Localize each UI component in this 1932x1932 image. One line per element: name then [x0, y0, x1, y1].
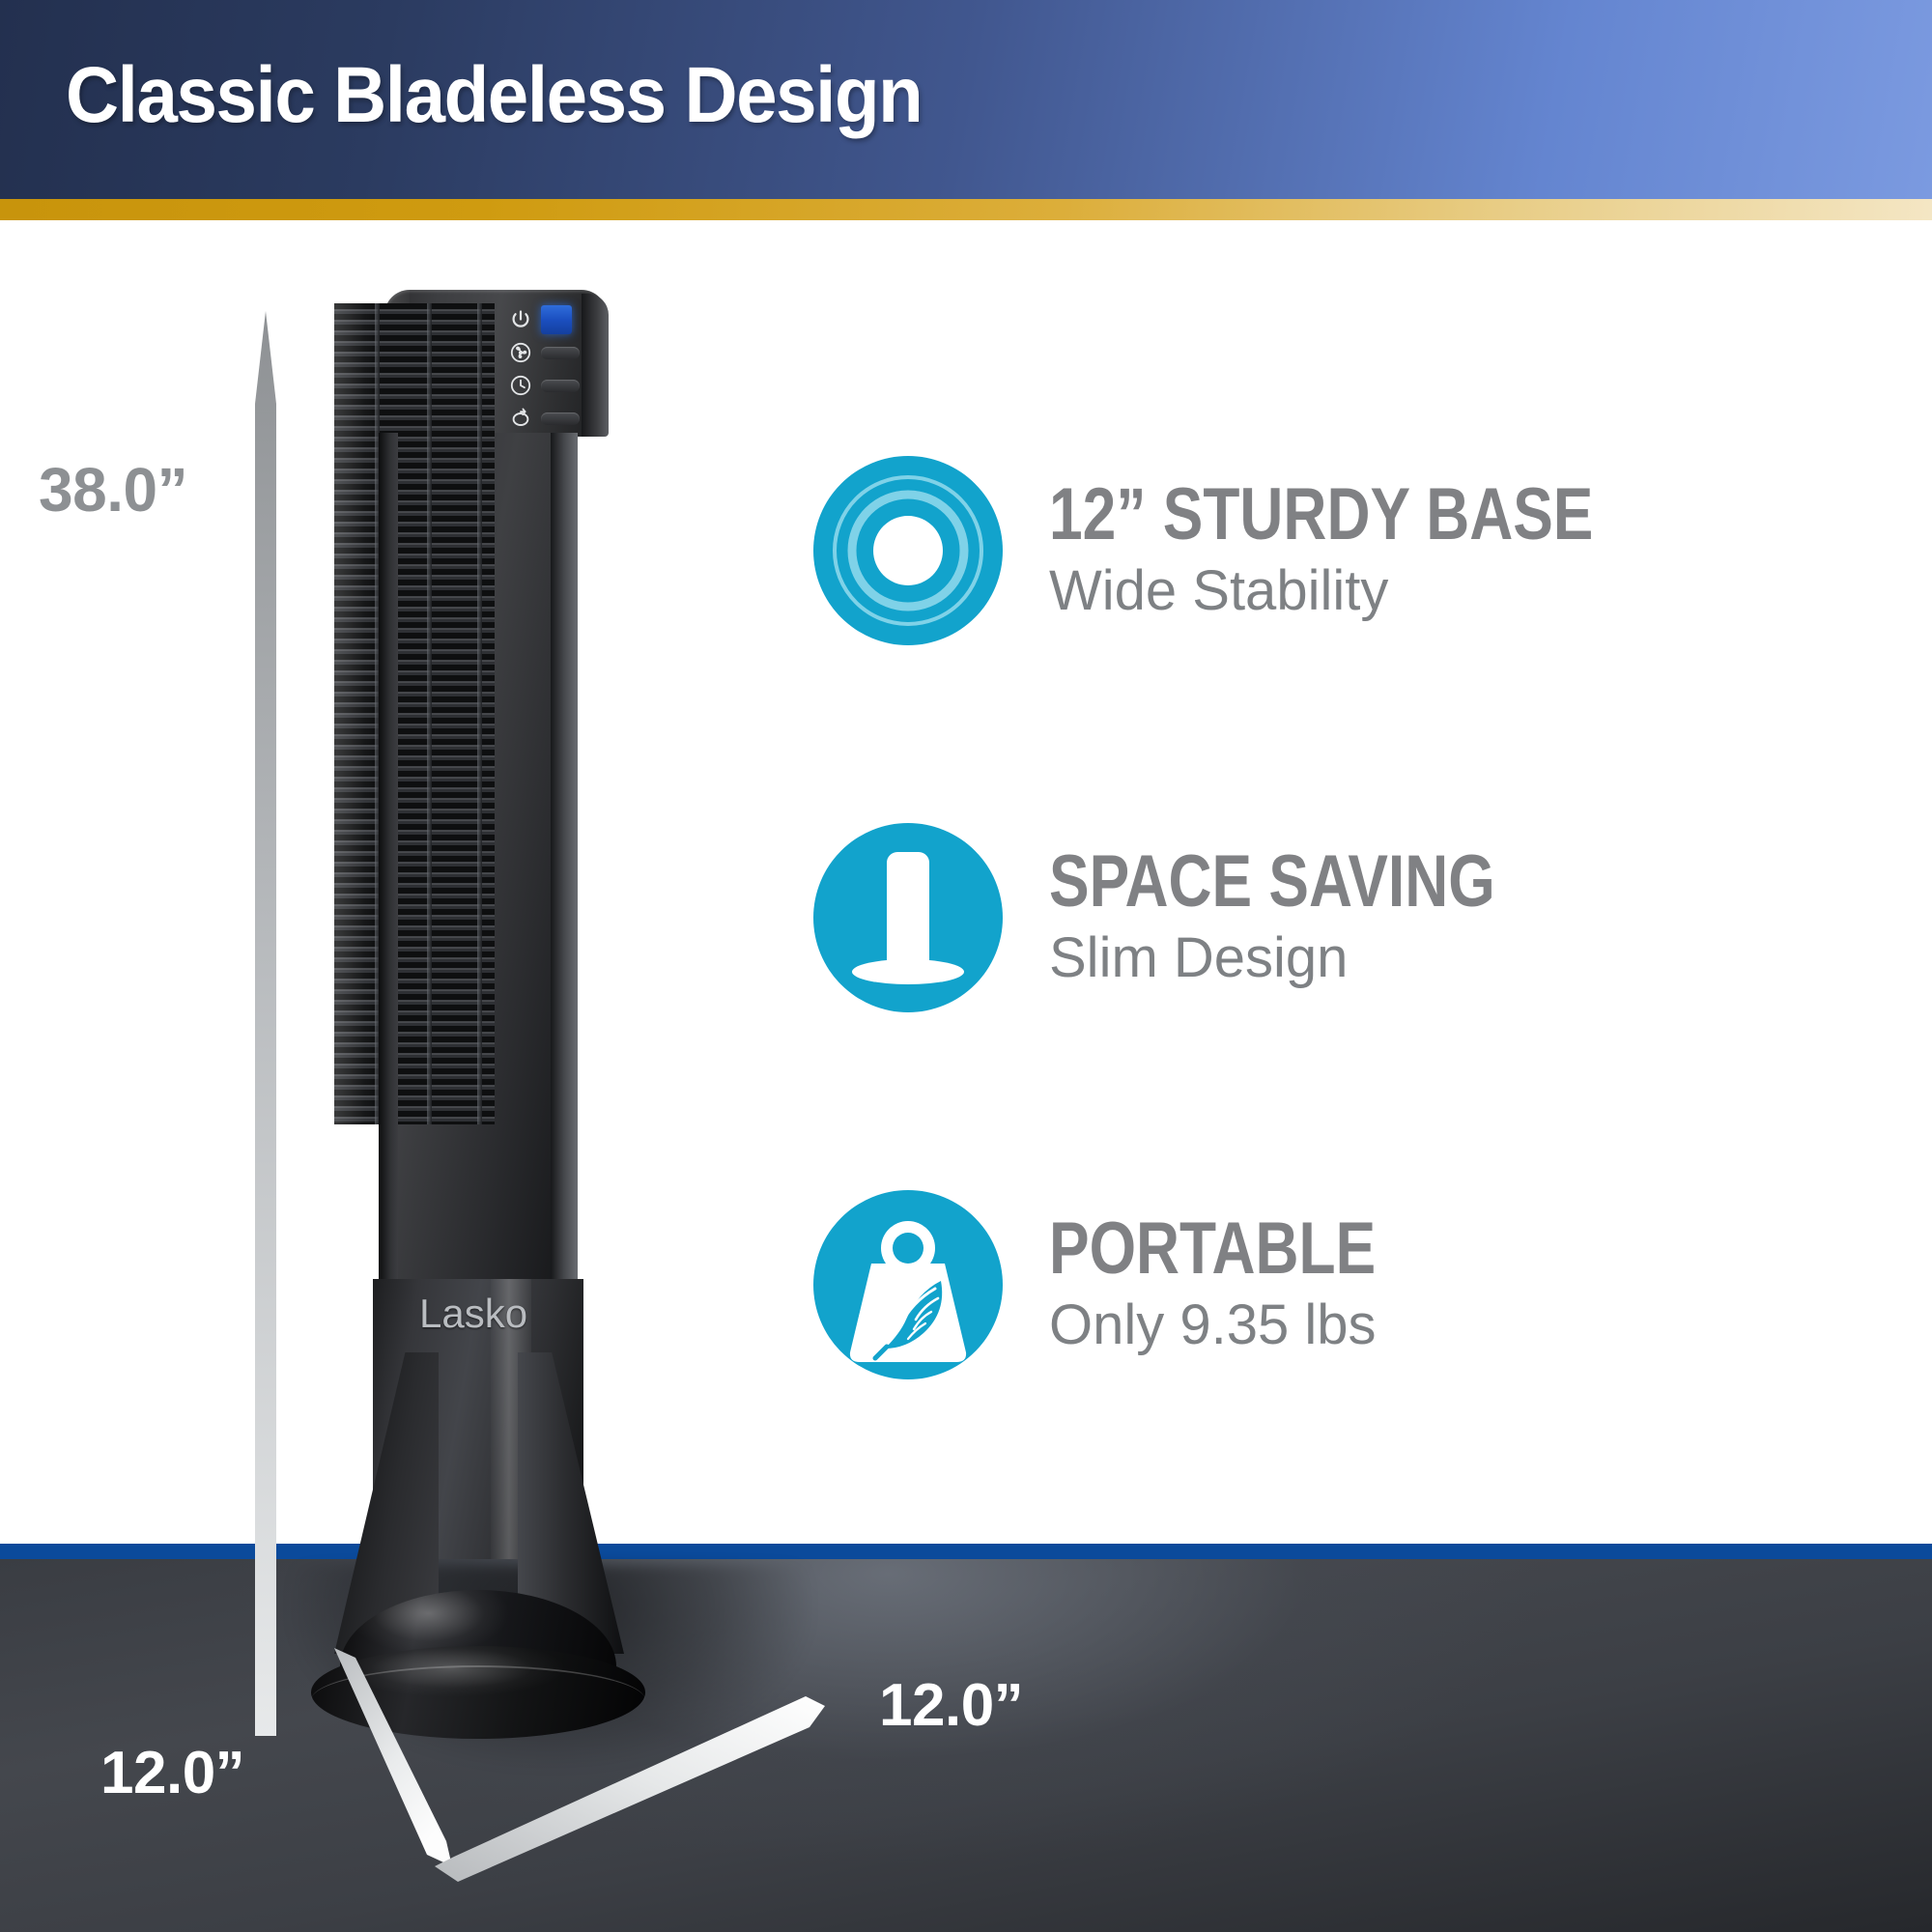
feature-list: 12” STURDY BASE Wide Stability SPACE SAV… — [811, 435, 1893, 1536]
timer-button[interactable] — [508, 373, 580, 398]
feature-sturdy-base: 12” STURDY BASE Wide Stability — [811, 435, 1893, 667]
fan-speed-button[interactable] — [508, 340, 580, 365]
feature-text-block: 12” STURDY BASE Wide Stability — [1049, 477, 1713, 624]
power-indicator — [541, 305, 572, 334]
tower-fan-product: 8hr 4hr 2hr 1hr 4 3 2 1 — [319, 290, 724, 1758]
feature-title: 12” STURDY BASE — [1049, 477, 1593, 553]
brand-logo: Lasko — [419, 1291, 527, 1337]
feature-subtitle: Slim Design — [1049, 925, 1593, 991]
feature-space-saving: SPACE SAVING Slim Design — [811, 802, 1893, 1034]
fan-head-right-edge — [582, 294, 609, 437]
height-dimension-label: 38.0” — [39, 454, 187, 526]
timer-clock-icon — [508, 373, 533, 398]
width-dimension-label: 12.0” — [879, 1671, 1023, 1740]
depth-dimension-label: 12.0” — [100, 1739, 244, 1807]
power-button[interactable] — [508, 307, 580, 332]
feature-text-block: SPACE SAVING Slim Design — [1049, 844, 1593, 991]
header-banner: Classic Bladeless Design — [0, 0, 1932, 199]
weight-feather-icon — [811, 1188, 1005, 1381]
infographic-page: Classic Bladeless Design 38.0” 8hr 4hr 2… — [0, 0, 1932, 1932]
concentric-rings-icon — [811, 454, 1005, 647]
fan-grille — [334, 303, 495, 1124]
timer-indicator — [541, 380, 580, 392]
oscillation-button[interactable] — [508, 406, 580, 431]
height-dimension-arrow — [253, 311, 278, 1736]
width-dimension-arrow — [415, 1667, 831, 1889]
floor-divider-line — [0, 1544, 1932, 1559]
fan-speed-indicator — [541, 347, 580, 359]
fan-grille-right-post — [551, 433, 578, 1283]
control-button-group — [508, 307, 580, 431]
feature-title: SPACE SAVING — [1049, 844, 1495, 920]
page-title: Classic Bladeless Design — [66, 50, 922, 141]
feature-portable: PORTABLE Only 9.35 lbs — [811, 1169, 1893, 1401]
slim-tower-icon — [811, 821, 1005, 1014]
header-gold-rule — [0, 199, 1932, 220]
oscillation-indicator — [541, 412, 580, 425]
oscillation-icon — [508, 406, 533, 431]
feature-title: PORTABLE — [1049, 1211, 1376, 1287]
feature-subtitle: Only 9.35 lbs — [1049, 1293, 1447, 1358]
fan-speed-icon — [508, 340, 533, 365]
feature-text-block: PORTABLE Only 9.35 lbs — [1049, 1211, 1447, 1358]
feature-subtitle: Wide Stability — [1049, 558, 1713, 624]
power-icon — [508, 307, 533, 332]
fan-grille-left-post — [379, 433, 398, 1283]
